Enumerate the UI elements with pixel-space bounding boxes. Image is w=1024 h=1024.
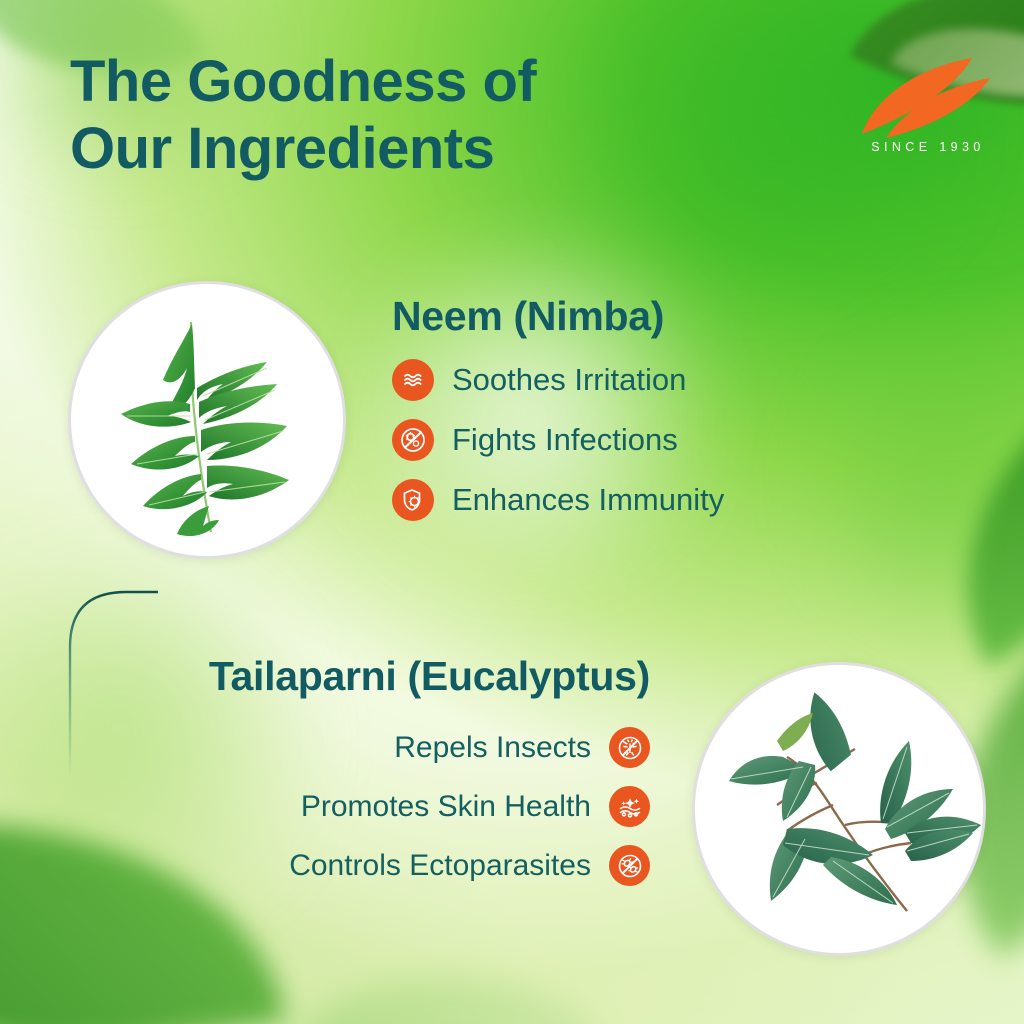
no-parasite-icon (609, 845, 650, 886)
skin-sparkle-icon (609, 786, 650, 827)
benefit-row: Controls Ectoparasites (130, 845, 650, 886)
benefit-label: Enhances Immunity (452, 483, 724, 517)
ingredient-name-eucalyptus: Tailaparni (Eucalyptus) (130, 656, 650, 697)
eucalyptus-leaf-photo (695, 665, 983, 953)
benefit-label: Promotes Skin Health (301, 790, 591, 823)
benefit-row: Fights Infections (392, 419, 812, 461)
ingredient-block-eucalyptus: Tailaparni (Eucalyptus) (130, 656, 650, 904)
benefit-row: Soothes Irritation (392, 359, 812, 401)
page-title-line-2: Our Ingredients (70, 115, 710, 182)
page-title-line-1: The Goodness of (70, 49, 536, 114)
benefit-row: Promotes Skin Health (130, 786, 650, 827)
ingredient-name-neem: Neem (Nimba) (392, 296, 812, 337)
benefit-label: Controls Ectoparasites (289, 849, 591, 882)
no-germ-icon (392, 419, 434, 461)
brand-logo: SINCE 1930 (852, 42, 1002, 162)
benefit-row: Repels Insects (130, 727, 650, 768)
neem-image-circle (68, 281, 346, 559)
neem-leaf-photo (71, 284, 343, 556)
benefit-list-eucalyptus: Repels Insects (130, 727, 650, 886)
ingredient-block-neem: Neem (Nimba) Soothes Irritation (392, 296, 812, 539)
shield-germ-icon (392, 479, 434, 521)
benefit-label: Fights Infections (452, 423, 678, 457)
eucalyptus-image-circle (692, 662, 986, 956)
no-mosquito-icon (609, 727, 650, 768)
waves-icon (392, 359, 434, 401)
benefit-row: Enhances Immunity (392, 479, 812, 521)
logo-tagline: SINCE 1930 (860, 140, 996, 154)
benefit-list-neem: Soothes Irritation (392, 359, 812, 521)
page-title: The Goodness of Our Ingredients (70, 48, 710, 183)
infographic-canvas: The Goodness of Our Ingredients SINCE 19… (0, 0, 1024, 1024)
orange-leaf-logo-mark (852, 42, 1002, 142)
benefit-label: Repels Insects (394, 731, 591, 764)
benefit-label: Soothes Irritation (452, 363, 686, 397)
